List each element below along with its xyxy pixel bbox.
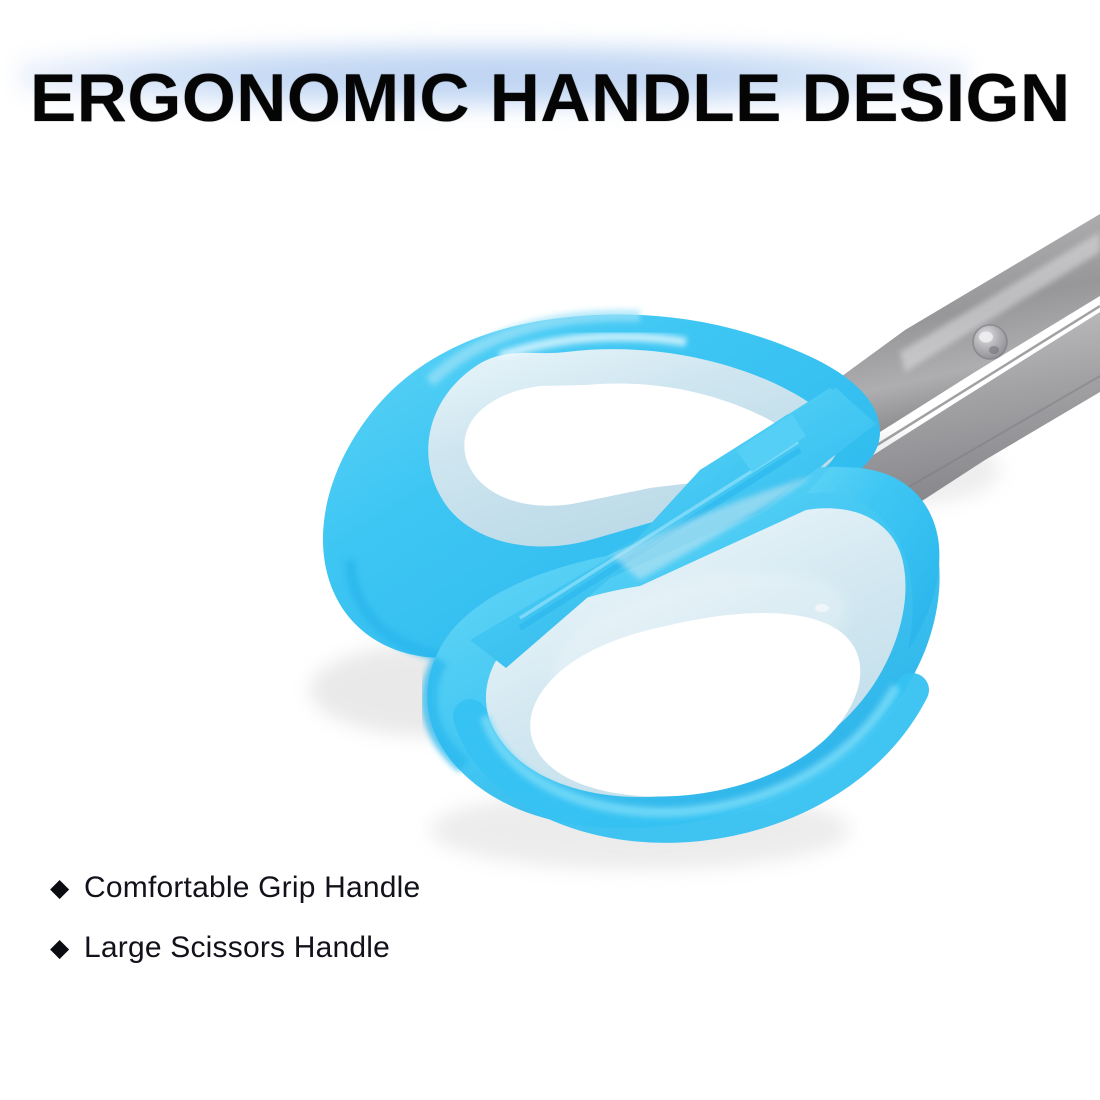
blade-edge-line (866, 306, 1100, 452)
lower-handle-outer (427, 467, 939, 829)
lower-handle (427, 467, 939, 829)
blade-assembly (812, 214, 1100, 512)
handle-hinge-notch (742, 414, 800, 464)
handle-seam-highlight (584, 430, 812, 582)
diamond-bullet-icon: ◆ (50, 936, 84, 961)
list-item: ◆ Large Scissors Handle (50, 918, 670, 978)
upper-handle-arm (612, 388, 872, 566)
list-item: ◆ Comfortable Grip Handle (50, 858, 670, 918)
upper-handle (323, 314, 880, 657)
lower-handle-rim-gloss (486, 690, 894, 812)
lower-blade (856, 312, 1100, 512)
title-banner: ERGONOMIC HANDLE DESIGN (0, 30, 1010, 122)
upper-handle-arm-overlay (470, 388, 876, 668)
pivot-screw (973, 325, 1007, 359)
upper-handle-rim-highlight (430, 316, 640, 382)
lower-handle-specular (815, 604, 829, 612)
arm-groove-highlight (520, 442, 798, 618)
feature-label-comfortable-grip-handle: Comfortable Grip Handle (84, 871, 420, 905)
lower-handle-thumb-flare (806, 467, 939, 650)
page-title: ERGONOMIC HANDLE DESIGN (30, 64, 1009, 132)
lower-handle-inner-pale (486, 508, 906, 797)
product-feature-image: ERGONOMIC HANDLE DESIGN (0, 0, 1100, 1100)
product-shadow (310, 435, 1000, 870)
blade-lower-edge-line (900, 376, 1100, 492)
upper-handle-gloss (500, 337, 686, 356)
upper-handle-edge-shade (350, 560, 446, 656)
blade-highlight (900, 232, 1100, 372)
feature-list: ◆ Comfortable Grip Handle ◆ Large Scisso… (50, 858, 670, 978)
lower-handle-hole (530, 613, 860, 797)
feature-label-large-scissors-handle: Large Scissors Handle (84, 931, 390, 965)
arm-hinge-block (736, 414, 806, 472)
upper-handle-hole (464, 383, 797, 505)
upper-blade (812, 214, 1100, 432)
lower-handle-left-edge (429, 660, 464, 766)
handle-seam-groove (584, 436, 816, 588)
lower-handle-sheen (540, 545, 860, 734)
upper-handle-outer (323, 314, 880, 657)
arm-groove-line (520, 450, 800, 628)
diamond-bullet-icon: ◆ (50, 876, 84, 901)
upper-handle-inner-pale (428, 349, 838, 546)
handle-contact-shadow (612, 476, 812, 580)
lower-handle-bottom-rim (470, 690, 912, 826)
